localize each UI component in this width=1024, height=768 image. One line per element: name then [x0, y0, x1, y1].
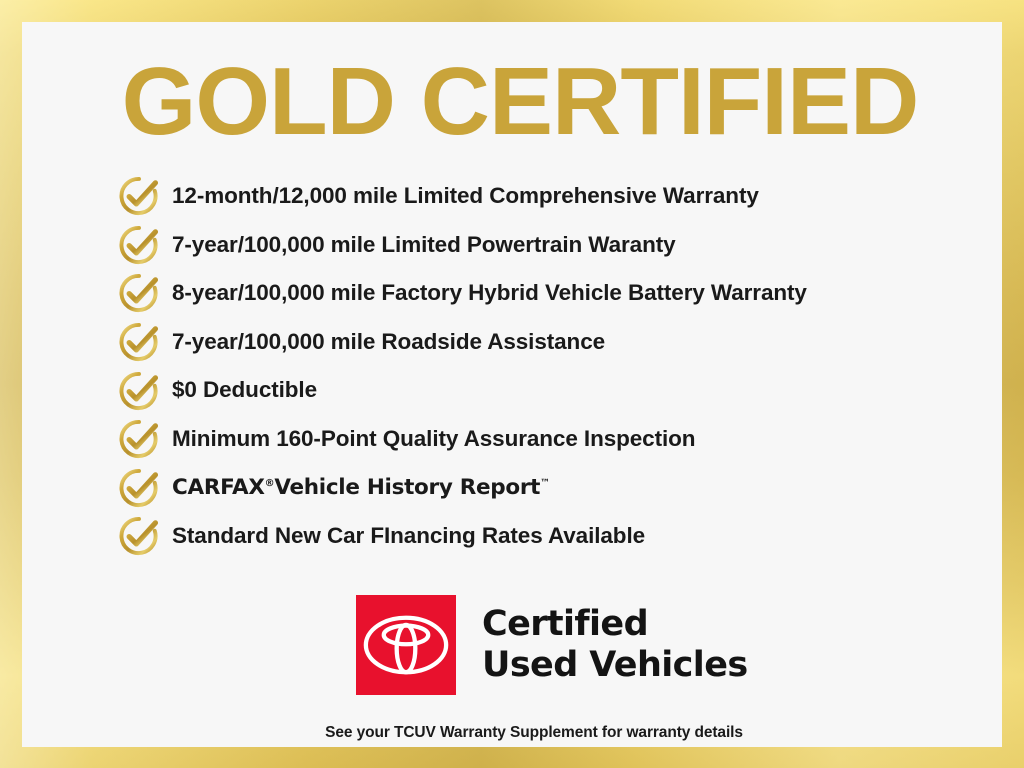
registered-trademark-icon: ®: [265, 478, 275, 489]
check-circle-icon: [118, 515, 160, 557]
list-item: CARFAX®Vehicle History Report™: [118, 464, 978, 513]
list-item: 7-year/100,000 mile Limited Powertrain W…: [118, 221, 978, 270]
trademark-icon: ™: [540, 478, 550, 489]
check-circle-icon: [118, 321, 160, 363]
list-item-label-carfax: CARFAX®Vehicle History Report™: [172, 477, 550, 499]
list-item: 12-month/12,000 mile Limited Comprehensi…: [118, 172, 978, 221]
list-item-label: Minimum 160-Point Quality Assurance Insp…: [172, 428, 695, 451]
check-circle-icon: [118, 370, 160, 412]
benefits-list: 12-month/12,000 mile Limited Comprehensi…: [118, 172, 978, 561]
toyota-logo-badge: [356, 595, 456, 695]
carfax-wordmark: CARFAX: [172, 475, 265, 500]
list-item-label: Standard New Car FInancing Rates Availab…: [172, 525, 645, 548]
check-circle-icon: [118, 467, 160, 509]
list-item-label: 7-year/100,000 mile Roadside Assistance: [172, 331, 605, 354]
page-title: GOLD CERTIFIED: [100, 54, 940, 150]
check-circle-icon: [118, 272, 160, 314]
list-item: Minimum 160-Point Quality Assurance Insp…: [118, 415, 978, 464]
list-item: Standard New Car FInancing Rates Availab…: [118, 512, 978, 561]
check-circle-icon: [118, 418, 160, 460]
list-item: 8-year/100,000 mile Factory Hybrid Vehic…: [118, 269, 978, 318]
carfax-report-text: Vehicle History Report: [274, 475, 540, 500]
certificate-panel: GOLD CERTIFIED 12-month/12,000 mile Li: [22, 22, 1002, 747]
list-item-label: 8-year/100,000 mile Factory Hybrid Vehic…: [172, 282, 807, 305]
warranty-disclaimer: See your TCUV Warranty Supplement for wa…: [22, 724, 1024, 742]
list-item-label: 7-year/100,000 mile Limited Powertrain W…: [172, 234, 676, 257]
toyota-wordmark-line2: Used Vehicles: [482, 645, 748, 686]
toyota-logo-icon: [363, 614, 449, 676]
check-circle-icon: [118, 224, 160, 266]
list-item-label: 12-month/12,000 mile Limited Comprehensi…: [172, 185, 759, 208]
toyota-certified-used-vehicles-logo: Certified Used Vehicles: [356, 595, 748, 695]
check-circle-icon: [118, 175, 160, 217]
toyota-wordmark-line1: Certified: [482, 604, 748, 645]
list-item-label: $0 Deductible: [172, 379, 317, 402]
list-item: 7-year/100,000 mile Roadside Assistance: [118, 318, 978, 367]
gold-certified-certificate: GOLD CERTIFIED 12-month/12,000 mile Li: [0, 0, 1024, 768]
list-item: $0 Deductible: [118, 366, 978, 415]
toyota-wordmark: Certified Used Vehicles: [482, 604, 748, 687]
